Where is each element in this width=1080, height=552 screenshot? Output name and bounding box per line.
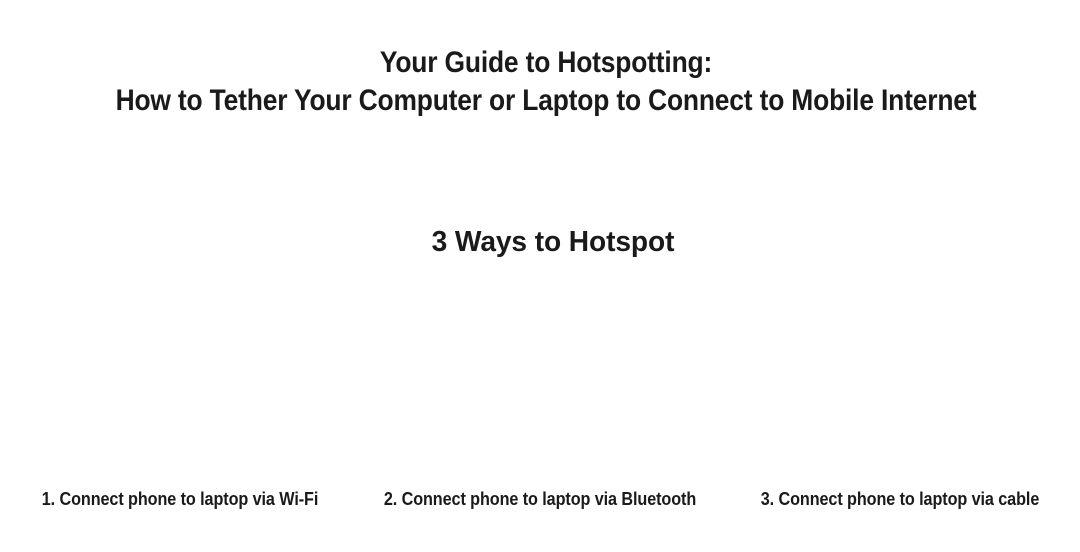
caption-row: 1. Connect phone to laptop via Wi-Fi 2. … (0, 488, 1080, 510)
wifi-tether-illustration (0, 280, 360, 476)
method-caption-bluetooth: 2. Connect phone to laptop via Bluetooth (378, 488, 702, 510)
page-title-line-2: How to Tether Your Computer or Laptop to… (66, 82, 1027, 120)
infographic-page: Your Guide to Hotspotting: How to Tether… (0, 0, 1080, 552)
cable-tether-illustration (720, 280, 1080, 476)
bluetooth-tether-illustration (360, 280, 720, 476)
method-caption-cable: 3. Connect phone to laptop via cable (738, 488, 1062, 510)
method-caption-wifi: 1. Connect phone to laptop via Wi-Fi (18, 488, 342, 510)
illustration-band (0, 280, 1080, 476)
page-title-line-1: Your Guide to Hotspotting: (66, 44, 1027, 82)
page-title: Your Guide to Hotspotting: How to Tether… (0, 44, 1080, 120)
section-heading: 3 Ways to Hotspot (17, 224, 1080, 260)
